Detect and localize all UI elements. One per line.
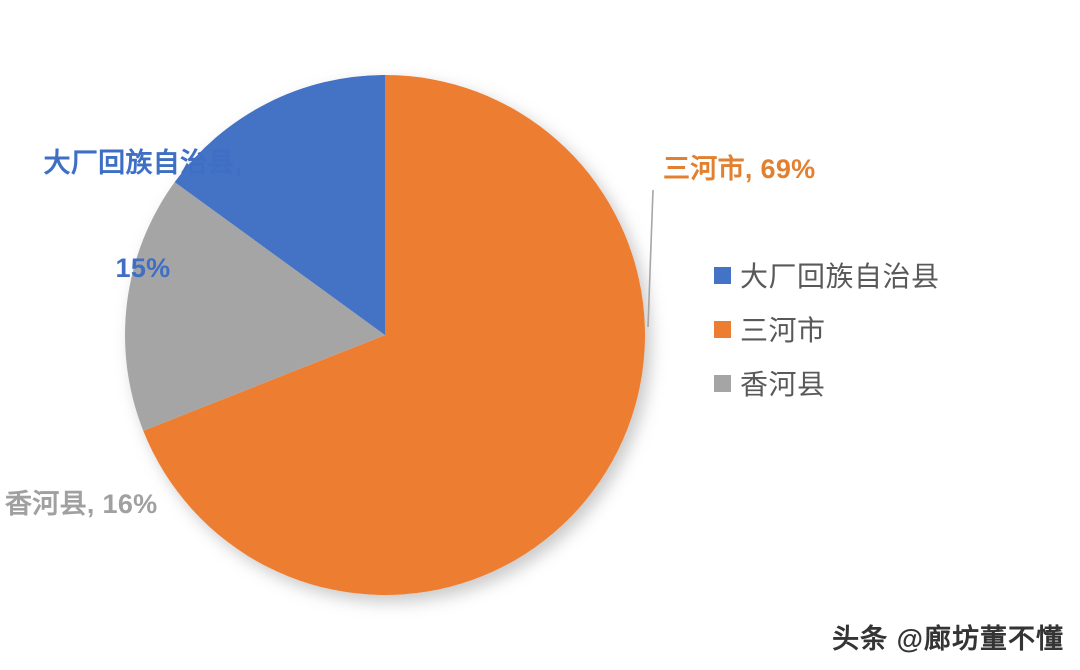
legend-label: 三河市 bbox=[740, 309, 826, 349]
legend-label: 大厂回族自治县 bbox=[740, 255, 940, 295]
data-label-dachang: 大厂回族自治县, 15% bbox=[18, 76, 268, 357]
legend-item-xianghe[interactable]: 香河县 bbox=[714, 366, 940, 400]
watermark-text: 头条 @廊坊董不懂 bbox=[832, 617, 1064, 656]
pie-chart-canvas: 大厂回族自治县, 15% 三河市, 69% 香河县, 16% 大厂回族自治县 三… bbox=[0, 0, 1080, 670]
legend-swatch-icon bbox=[714, 267, 731, 284]
legend-swatch-icon bbox=[714, 375, 731, 392]
data-label-sanhe: 三河市, 69% bbox=[663, 152, 815, 187]
data-label-dachang-name: 大厂回族自治县, bbox=[18, 146, 268, 181]
legend-item-sanhe[interactable]: 三河市 bbox=[714, 312, 940, 346]
legend-item-dachang[interactable]: 大厂回族自治县 bbox=[714, 258, 940, 292]
legend-label: 香河县 bbox=[740, 363, 826, 403]
leader-line-sanhe-shi bbox=[646, 190, 656, 327]
chart-legend: 大厂回族自治县 三河市 香河县 bbox=[714, 258, 940, 400]
data-label-xianghe: 香河县, 16% bbox=[5, 487, 157, 522]
data-label-dachang-percent: 15% bbox=[18, 251, 268, 286]
legend-swatch-icon bbox=[714, 321, 731, 338]
